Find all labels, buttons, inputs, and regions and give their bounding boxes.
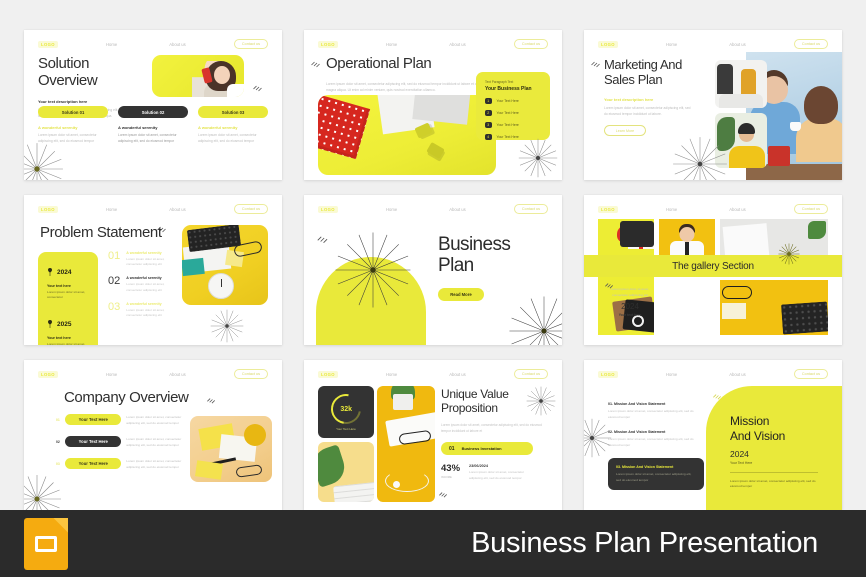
nav-contact-button[interactable]: Contact us (794, 39, 828, 49)
squiggle-decoration (310, 56, 322, 74)
donut-caption: Your Text Here (336, 427, 356, 431)
slide-body: Lorem ipsum dolor sit amet, consectetur … (326, 81, 492, 93)
nav-links: Home About us (618, 372, 794, 377)
pill-label: Business Investation (462, 446, 502, 451)
solution-heading-3: A wonderful serenity (198, 125, 268, 130)
hero-photo-woman-with-phone (152, 55, 244, 97)
read-more-button[interactable]: Read More (438, 288, 484, 301)
mission-block[interactable]: 01. Mission And Vision Statement Lorem i… (608, 402, 704, 420)
slide-thumbnail-marketing-and-sales-plan[interactable]: LOGO Home About us Contact us Marketing … (584, 30, 842, 180)
nav-link-home[interactable]: Home (386, 207, 397, 212)
item-number: 03 (108, 302, 120, 319)
timeline-body: Lorem ipsum dolor sit amet, consectetur (47, 290, 89, 301)
block-heading: 03. Mission And Vision Statement (616, 465, 696, 469)
block-body: Lorem ipsum dolor sit amet, consectetur … (608, 409, 704, 420)
desk-photo-clock (182, 225, 268, 305)
mission-block-active[interactable]: 03. Mission And Vision Statement Lorem i… (608, 458, 704, 490)
timeline-body: Lorem ipsum dolor sit amet, consectetur (47, 342, 89, 346)
stat-value: 43% (441, 464, 460, 474)
nav-link-home[interactable]: Home (106, 372, 117, 377)
donut-chart-card: 32k Your Text Here (318, 386, 374, 438)
logo: LOGO (318, 371, 338, 378)
business-plan-card: Text Paragraph Text Your Business Plan 1… (476, 72, 550, 140)
left-column: 32k Your Text Here (318, 386, 374, 502)
problem-list-item: 03 A wonderful serenity Lorem ipsum dolo… (108, 302, 176, 319)
row-pill[interactable]: Your Text Here (65, 436, 121, 447)
slide-navbar: LOGO Home About us Contact us (318, 203, 548, 215)
cover-title-line-2: Plan (438, 256, 548, 277)
card-list-item[interactable]: 1 Your Text Here (485, 98, 541, 105)
item-body: Lorem ipsum dolor sit amet, consectetur … (126, 282, 176, 293)
photo-meeting (715, 60, 767, 108)
item-heading: A wonderful serenity (126, 251, 176, 255)
slide-navbar: LOGO Home About us Contact us (318, 38, 548, 50)
nav-links: Home About us (58, 42, 234, 47)
item-body: Lorem ipsum dolor sit amet, consectetur … (126, 308, 176, 319)
starburst-decoration (210, 309, 244, 343)
slide-thumbnail-mission-and-vision[interactable]: LOGO Home About us Contact us Mission An… (584, 360, 842, 510)
solution-column-1: Solution 01 A wonderful serenity Lorem i… (38, 106, 108, 144)
starburst-decoration (672, 136, 728, 180)
nav-links: Home About us (58, 372, 234, 377)
problem-list: 01 A wonderful serenity Lorem ipsum dolo… (108, 251, 176, 327)
slide-subtitle: Your text description here (38, 99, 148, 104)
cover-title-block: Business Plan Read More (438, 235, 548, 301)
nav-contact-button[interactable]: Contact us (514, 204, 548, 214)
timeline-label: Your text here (47, 284, 89, 288)
item-number: 1 (485, 98, 492, 105)
gallery-caption-cell (659, 280, 715, 336)
slide-title: Solution Overview (38, 56, 148, 90)
overview-row: 02 Your Text Here Lorem ipsum dolor sit … (56, 436, 184, 448)
nav-links: Home About us (338, 372, 514, 377)
slide-thumbnail-operational-plan[interactable]: LOGO Home About us Contact us Operationa… (304, 30, 562, 180)
gallery-grid (598, 219, 828, 335)
photo-desk-orange (377, 386, 435, 502)
nav-contact-button[interactable]: Contact us (794, 204, 828, 214)
solution-pill-1[interactable]: Solution 01 (38, 106, 108, 118)
overview-row: 03 Your Text Here Lorem ipsum dolor sit … (56, 458, 184, 470)
nav-contact-button[interactable]: Contact us (234, 39, 268, 49)
timeline-item: 2025 Your text here Lorem ipsum dolor si… (47, 315, 89, 345)
timeline-label: Your text here (47, 336, 89, 340)
squiggle-decoration (316, 231, 330, 250)
mission-block[interactable]: 02. Mission And Vision Statement Lorem i… (608, 430, 704, 448)
solution-heading-2: A wonderful serenity (118, 125, 188, 130)
nav-link-home[interactable]: Home (106, 42, 117, 47)
slide-navbar: LOGO Home About us Contact us (598, 38, 828, 50)
block-body: Lorem ipsum dolor sit amet, consectetur … (616, 472, 696, 483)
squiggle-decoration (712, 388, 723, 406)
slide-navbar: LOGO Home About us Contact us (598, 203, 828, 215)
gallery-caption: Your text here (606, 313, 654, 317)
stat-date: 23/06/2024 (469, 464, 531, 468)
solution-body-2: Lorem ipsum dolor sit amet, consectetur … (118, 132, 188, 144)
gallery-band-title: The gallery Section (672, 261, 754, 272)
nav-link-about[interactable]: About us (449, 372, 466, 377)
slide-title: Marketing And Sales Plan (604, 58, 694, 87)
nav-link-home[interactable]: Home (386, 42, 397, 47)
nav-links: Home About us (338, 42, 514, 47)
panel-caption: Your Text Here (730, 461, 842, 465)
mission-panel: Mission And Vision 2024 Your Text Here L… (706, 386, 842, 510)
nav-link-about[interactable]: About us (449, 42, 466, 47)
panel-body: Lorem ipsum dolor sit amet, consectetur … (730, 479, 822, 490)
solution-body-3: Lorem ipsum dolor sit amet, consectetur … (198, 132, 268, 144)
solution-pill-2[interactable]: Solution 02 (118, 106, 188, 118)
item-heading: A wonderful serenity (126, 302, 176, 306)
card-list-item[interactable]: 3 Your Text Here (485, 122, 541, 129)
photo-plant-keyboard (318, 442, 374, 502)
item-body: Lorem ipsum dolor sit amet, consectetur … (126, 257, 176, 268)
panel-year: 2024 (730, 449, 842, 459)
logo: LOGO (38, 41, 58, 48)
logo: LOGO (598, 41, 618, 48)
slide-title: Problem Statement (40, 225, 162, 242)
row-body: Lorem ipsum dolor sit amet, consectetur … (126, 414, 184, 426)
nav-link-home[interactable]: Home (386, 372, 397, 377)
slide-navbar: LOGO Home About us Contact us (38, 368, 268, 380)
nav-link-about[interactable]: About us (449, 207, 466, 212)
nav-link-about[interactable]: About us (169, 42, 186, 47)
slide-navbar: LOGO Home About us Contact us (38, 38, 268, 50)
slide-thumbnail-unique-value-proposition[interactable]: LOGO Home About us Contact us 32k Your T… (304, 360, 562, 510)
panel-title-line-1: Mission (730, 414, 842, 429)
item-number: 2 (485, 110, 492, 117)
slide-navbar: LOGO Home About us Contact us (38, 203, 268, 215)
slide-title: Operational Plan (326, 56, 492, 73)
investation-pill[interactable]: 01 Business Investation (441, 442, 533, 455)
item-label: Your Text Here (497, 99, 519, 103)
starburst-decoration (584, 418, 612, 458)
item-label: Your Text Here (497, 123, 519, 127)
gallery-year: 2024 (606, 302, 654, 311)
solution-column-3: Solution 03 A wonderful serenity Lorem i… (198, 106, 268, 144)
footer-bar: Business Plan Presentation (0, 510, 866, 577)
learn-more-button[interactable]: Learn More (604, 125, 646, 136)
block-body: Lorem ipsum dolor sit amet, consectetur … (608, 437, 704, 448)
problem-list-item: 02 A wonderful serenity Lorem ipsum dolo… (108, 276, 176, 293)
slide-thumbnail-gallery-section[interactable]: LOGO Home About us Contact us The galler… (584, 195, 842, 345)
squiggle-decoration (590, 56, 602, 74)
mission-blocks: 01. Mission And Vision Statement Lorem i… (608, 402, 704, 500)
pin-icon (47, 263, 53, 281)
overview-row: 01 Your Text Here Lorem ipsum dolor sit … (56, 414, 184, 426)
nav-link-home[interactable]: Home (666, 372, 677, 377)
slide-body: Lorem ipsum dolor sit amet, consectetur … (604, 105, 694, 117)
item-number: 3 (485, 122, 492, 129)
logo: LOGO (38, 206, 58, 213)
nav-links: Home About us (618, 42, 794, 47)
slide-thumbnail-gallery: LOGO Home About us Contact us Solution O… (0, 0, 866, 510)
starburst-decoration (518, 138, 558, 178)
nav-link-about[interactable]: About us (729, 207, 746, 212)
squiggle-decoration (206, 392, 217, 410)
starburst-decoration (334, 231, 412, 309)
item-label: Your Text Here (497, 111, 519, 115)
nav-links: Home About us (58, 207, 234, 212)
row-index: 03 (56, 458, 60, 466)
problem-list-item: 01 A wonderful serenity Lorem ipsum dolo… (108, 251, 176, 268)
row-index: 02 (56, 436, 60, 444)
row-body: Lorem ipsum dolor sit amet, consectetur … (126, 458, 184, 470)
google-slides-icon (24, 518, 68, 570)
nav-link-home[interactable]: Home (106, 207, 117, 212)
block-heading: 02. Mission And Vision Statement (608, 430, 704, 434)
gallery-title-band: The gallery Section (584, 255, 842, 277)
slide-title: Company Overview (64, 390, 188, 407)
nav-contact-button[interactable]: Contact us (794, 369, 828, 379)
stat-body: Lorem ipsum dolor sit amet, consectetur … (469, 470, 531, 481)
block-heading: 01. Mission And Vision Statement (608, 402, 704, 406)
solution-column-2: Solution 02 A wonderful serenity Lorem i… (118, 106, 188, 144)
nav-contact-button[interactable]: Contact us (234, 369, 268, 379)
logo: LOGO (318, 41, 338, 48)
squiggle-decoration (156, 221, 168, 239)
row-body: Lorem ipsum dolor sit amet, consectetur … (126, 436, 184, 448)
nav-link-about[interactable]: About us (729, 372, 746, 377)
slide-thumbnail-business-plan-cover[interactable]: LOGO Home About us Contact us (304, 195, 562, 345)
desk-photo (318, 95, 496, 175)
card-heading: Your Business Plan (485, 86, 541, 92)
starburst-decoration (508, 295, 562, 345)
timeline-item: 2024 Your text here Lorem ipsum dolor si… (47, 263, 89, 300)
timeline-card: 2024 Your text here Lorem ipsum dolor si… (38, 252, 98, 345)
logo: LOGO (318, 206, 338, 213)
stat-label: INCOME (441, 476, 460, 479)
gallery-photo-keyboard (720, 280, 828, 336)
slide-body: Lorem ipsum dolor sit amet, consectetur … (441, 423, 550, 435)
nav-link-about[interactable]: About us (729, 42, 746, 47)
nav-contact-button[interactable]: Contact us (514, 369, 548, 379)
nav-link-about[interactable]: About us (169, 207, 186, 212)
solution-pill-3[interactable]: Solution 03 (198, 106, 268, 118)
slide-subtitle: Your text description here (604, 97, 694, 102)
overview-rows: 01 Your Text Here Lorem ipsum dolor sit … (56, 414, 184, 480)
item-number: 01 (108, 251, 120, 268)
logo: LOGO (598, 371, 618, 378)
solution-heading-1: A wonderful serenity (38, 125, 108, 130)
starburst-decoration (24, 142, 64, 180)
card-list-item[interactable]: 2 Your Text Here (485, 110, 541, 117)
slide-navbar: LOGO Home About us Contact us (318, 368, 548, 380)
cover-title-line-1: Business (438, 235, 548, 256)
starburst-decoration (526, 386, 556, 416)
row-pill[interactable]: Your Text Here (65, 414, 121, 425)
starburst-decoration (24, 474, 62, 510)
product-title: Business Plan Presentation (471, 527, 818, 560)
panel-title-line-2: And Vision (730, 429, 842, 444)
logo: LOGO (38, 371, 58, 378)
office-supplies-photo (190, 416, 272, 482)
squiggle-decoration (252, 80, 264, 98)
nav-links: Home About us (618, 207, 794, 212)
pin-icon (47, 315, 53, 333)
slide-thumbnail-solution-overview[interactable]: LOGO Home About us Contact us Solution O… (24, 30, 282, 180)
logo: LOGO (598, 206, 618, 213)
slide-thumbnail-company-overview[interactable]: LOGO Home About us Contact us Company Ov… (24, 360, 282, 510)
nav-contact-button[interactable]: Contact us (234, 204, 268, 214)
item-number: 02 (108, 276, 120, 293)
item-heading: A wonderful serenity (126, 276, 176, 280)
squiggle-decoration (604, 277, 615, 295)
stat-block: 43% INCOME 23/06/2024 Lorem ipsum dolor … (441, 464, 550, 481)
card-lead: Text Paragraph Text (485, 80, 541, 84)
item-label: Your Text Here (497, 135, 519, 139)
timeline-year: 2025 (57, 321, 71, 328)
row-pill[interactable]: Your Text Here (65, 458, 121, 469)
pill-number: 01 (449, 446, 455, 452)
donut-value: 32k (340, 405, 352, 412)
slide-navbar: LOGO Home About us Contact us (598, 368, 828, 380)
squiggle-decoration (438, 486, 449, 504)
starburst-decoration (778, 243, 800, 265)
timeline-year: 2024 (57, 269, 71, 276)
row-index: 01 (56, 414, 60, 422)
slide-thumbnail-problem-statement[interactable]: LOGO Home About us Contact us Problem St… (24, 195, 282, 345)
donut-ring: 32k (325, 388, 367, 430)
nav-links: Home About us (338, 207, 514, 212)
nav-contact-button[interactable]: Contact us (514, 39, 548, 49)
item-number: 4 (485, 134, 492, 141)
solution-columns: Solution 01 A wonderful serenity Lorem i… (38, 106, 268, 144)
nav-link-about[interactable]: About us (169, 372, 186, 377)
nav-link-home[interactable]: Home (666, 207, 677, 212)
divider (730, 472, 818, 473)
nav-link-home[interactable]: Home (666, 42, 677, 47)
